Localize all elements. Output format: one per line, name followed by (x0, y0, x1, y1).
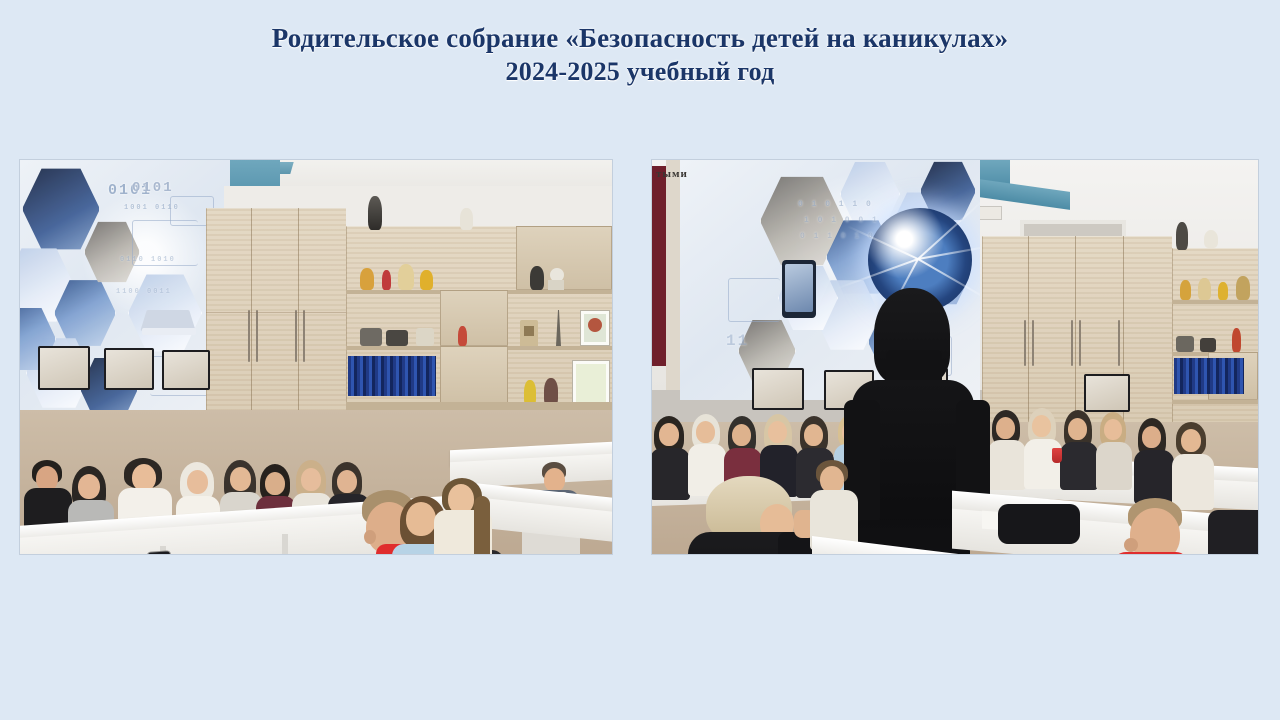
classroom-meeting-photo-left: 0101 1001 0110 0110 1010 1100 0011 0101 (20, 160, 612, 554)
computer-monitor (38, 346, 90, 390)
slide-title-line-2: 2024-2025 учебный год (0, 55, 1280, 88)
slide-title-block: Родительское собрание «Безопасность дете… (0, 22, 1280, 88)
blue-books (348, 356, 436, 396)
slide-title-line-1: Родительское собрание «Безопасность дете… (0, 22, 1280, 55)
mural-partial-text: тыми (656, 168, 688, 180)
classroom-meeting-photo-right: 0 1 0 1 1 0 1 0 1 0 0 1 0 1 1 0 1 0 11 т… (652, 160, 1258, 554)
mural-binary-corner: 11 (726, 332, 749, 350)
